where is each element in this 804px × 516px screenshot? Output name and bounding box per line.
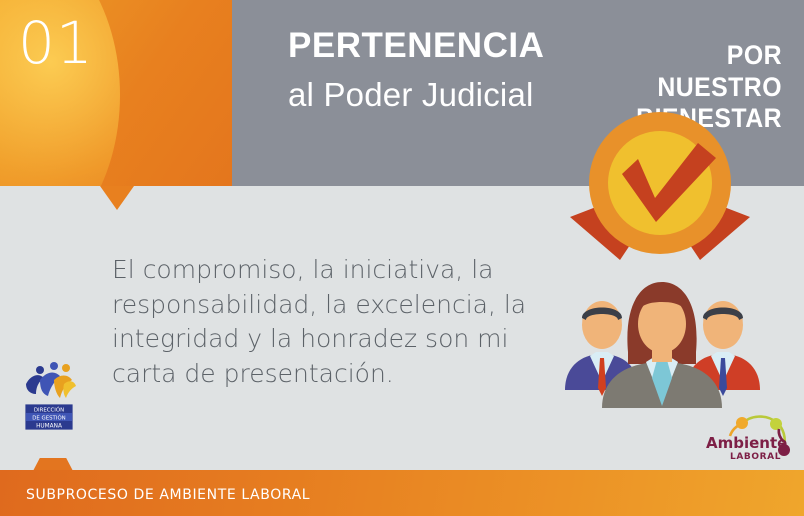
section-number: 01: [18, 14, 94, 72]
header-pointer-triangle: [100, 186, 134, 210]
tagline-line-1: POR: [598, 40, 782, 72]
title-block: PERTENENCIA al Poder Judicial: [288, 26, 544, 115]
ambiente-logo-line-2: LABORAL: [730, 452, 781, 462]
award-check-badge-icon: [560, 112, 760, 262]
page-subtitle: al Poder Judicial: [288, 75, 544, 115]
dgh-line-2: DE GESTIÓN: [32, 414, 65, 421]
tagline-line-2: NUESTRO: [598, 72, 782, 104]
dgh-line-3: HUMANA: [36, 423, 62, 429]
three-people-group-icon: [560, 278, 765, 408]
ambiente-logo-line-1: Ambiente: [706, 434, 787, 452]
quote-text: El compromiso, la iniciativa, la respons…: [112, 253, 552, 391]
direccion-gestion-humana-logo: DIRECCIÓN DE GESTIÓN HUMANA: [18, 358, 80, 436]
ambiente-laboral-logo: Ambiente LABORAL: [700, 412, 800, 466]
page-title: PERTENENCIA: [288, 26, 544, 65]
poster-canvas: 01 POR NUESTRO BIENESTAR PERTENENCIA al …: [0, 0, 804, 516]
dgh-line-1: DIRECCIÓN: [34, 406, 64, 413]
footer-label: SUBPROCESO DE AMBIENTE LABORAL: [26, 487, 310, 503]
